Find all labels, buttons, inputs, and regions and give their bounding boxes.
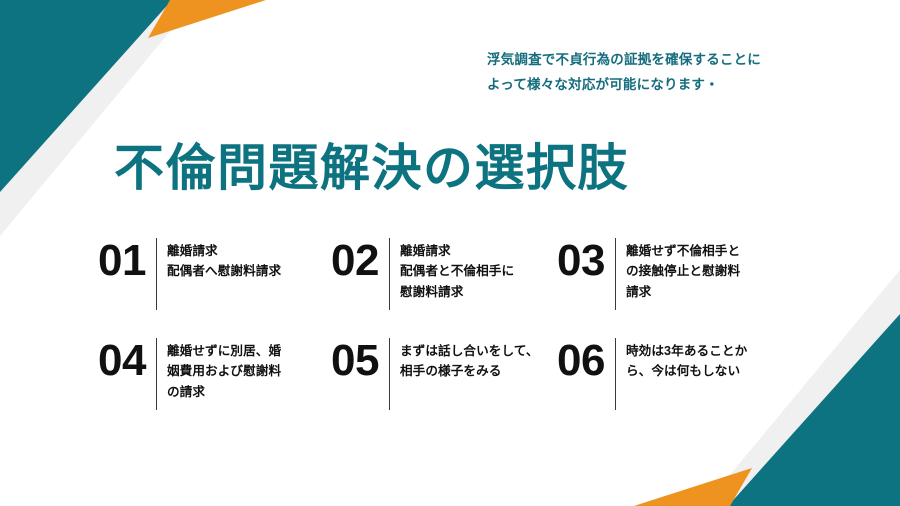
option-text-line: 相手の様子をみる (400, 361, 557, 381)
option-text-01: 離婚請求 配偶者へ慰謝料請求 (167, 238, 331, 282)
bottom-right-orange-triangle (634, 468, 752, 506)
top-left-gray-shape (0, 0, 196, 236)
option-item-02: 02 離婚請求 配偶者と不倫相手に 慰謝料請求 (331, 238, 557, 338)
option-divider-03 (615, 238, 616, 310)
option-text-line: 配偶者へ慰謝料請求 (167, 261, 331, 281)
option-text-line: 離婚請求 (400, 241, 557, 261)
option-divider-06 (615, 338, 616, 410)
option-item-01: 01 離婚請求 配偶者へ慰謝料請求 (98, 238, 331, 338)
option-number-05: 05 (331, 340, 389, 382)
option-number-01: 01 (98, 240, 156, 282)
option-text-line: 離婚請求 (167, 241, 331, 261)
option-text-line: 姻費用および慰謝料 (167, 361, 331, 381)
option-divider-01 (156, 238, 157, 310)
option-text-line: 配偶者と不倫相手に (400, 261, 557, 281)
header-note-line-2: よって様々な対応が可能になります・ (487, 73, 887, 98)
option-number-06: 06 (557, 340, 615, 382)
option-text-05: まずは話し合いをして、 相手の様子をみる (400, 338, 557, 382)
option-text-06: 時効は3年あることか ら、今は何もしない (626, 338, 802, 382)
header-note: 浮気調査で不貞行為の証拠を確保することに よって様々な対応が可能になります・ (487, 48, 887, 98)
option-number-04: 04 (98, 340, 156, 382)
option-text-line: の接触停止と慰謝料 (626, 261, 802, 281)
option-text-line: の請求 (167, 382, 331, 402)
options-grid: 01 離婚請求 配偶者へ慰謝料請求 02 離婚請求 配偶者と不倫相手に 慰謝料請… (98, 238, 834, 410)
option-number-02: 02 (331, 240, 389, 282)
option-divider-05 (389, 338, 390, 410)
slide-title: 不倫問題解決の選択肢 (114, 141, 629, 196)
option-item-05: 05 まずは話し合いをして、 相手の様子をみる (331, 338, 557, 410)
option-item-03: 03 離婚せず不倫相手と の接触停止と慰謝料 請求 (557, 238, 802, 338)
option-text-02: 離婚請求 配偶者と不倫相手に 慰謝料請求 (400, 238, 557, 302)
option-item-06: 06 時効は3年あることか ら、今は何もしない (557, 338, 802, 410)
option-text-line: 時効は3年あることか (626, 341, 802, 361)
option-text-03: 離婚せず不倫相手と の接触停止と慰謝料 請求 (626, 238, 802, 302)
option-text-line: まずは話し合いをして、 (400, 341, 557, 361)
option-divider-02 (389, 238, 390, 310)
option-divider-04 (156, 338, 157, 410)
option-text-04: 離婚せずに別居、婚 姻費用および慰謝料 の請求 (167, 338, 331, 402)
option-text-line: 請求 (626, 282, 802, 302)
option-text-line: 慰謝料請求 (400, 282, 557, 302)
slide-canvas: 浮気調査で不貞行為の証拠を確保することに よって様々な対応が可能になります・ 不… (0, 0, 900, 506)
top-left-orange-triangle (148, 0, 266, 38)
header-note-line-1: 浮気調査で不貞行為の証拠を確保することに (487, 48, 887, 73)
option-text-line: 離婚せず不倫相手と (626, 241, 802, 261)
option-text-line: 離婚せずに別居、婚 (167, 341, 331, 361)
option-number-03: 03 (557, 240, 615, 282)
option-text-line: ら、今は何もしない (626, 361, 802, 381)
option-item-04: 04 離婚せずに別居、婚 姻費用および慰謝料 の請求 (98, 338, 331, 410)
